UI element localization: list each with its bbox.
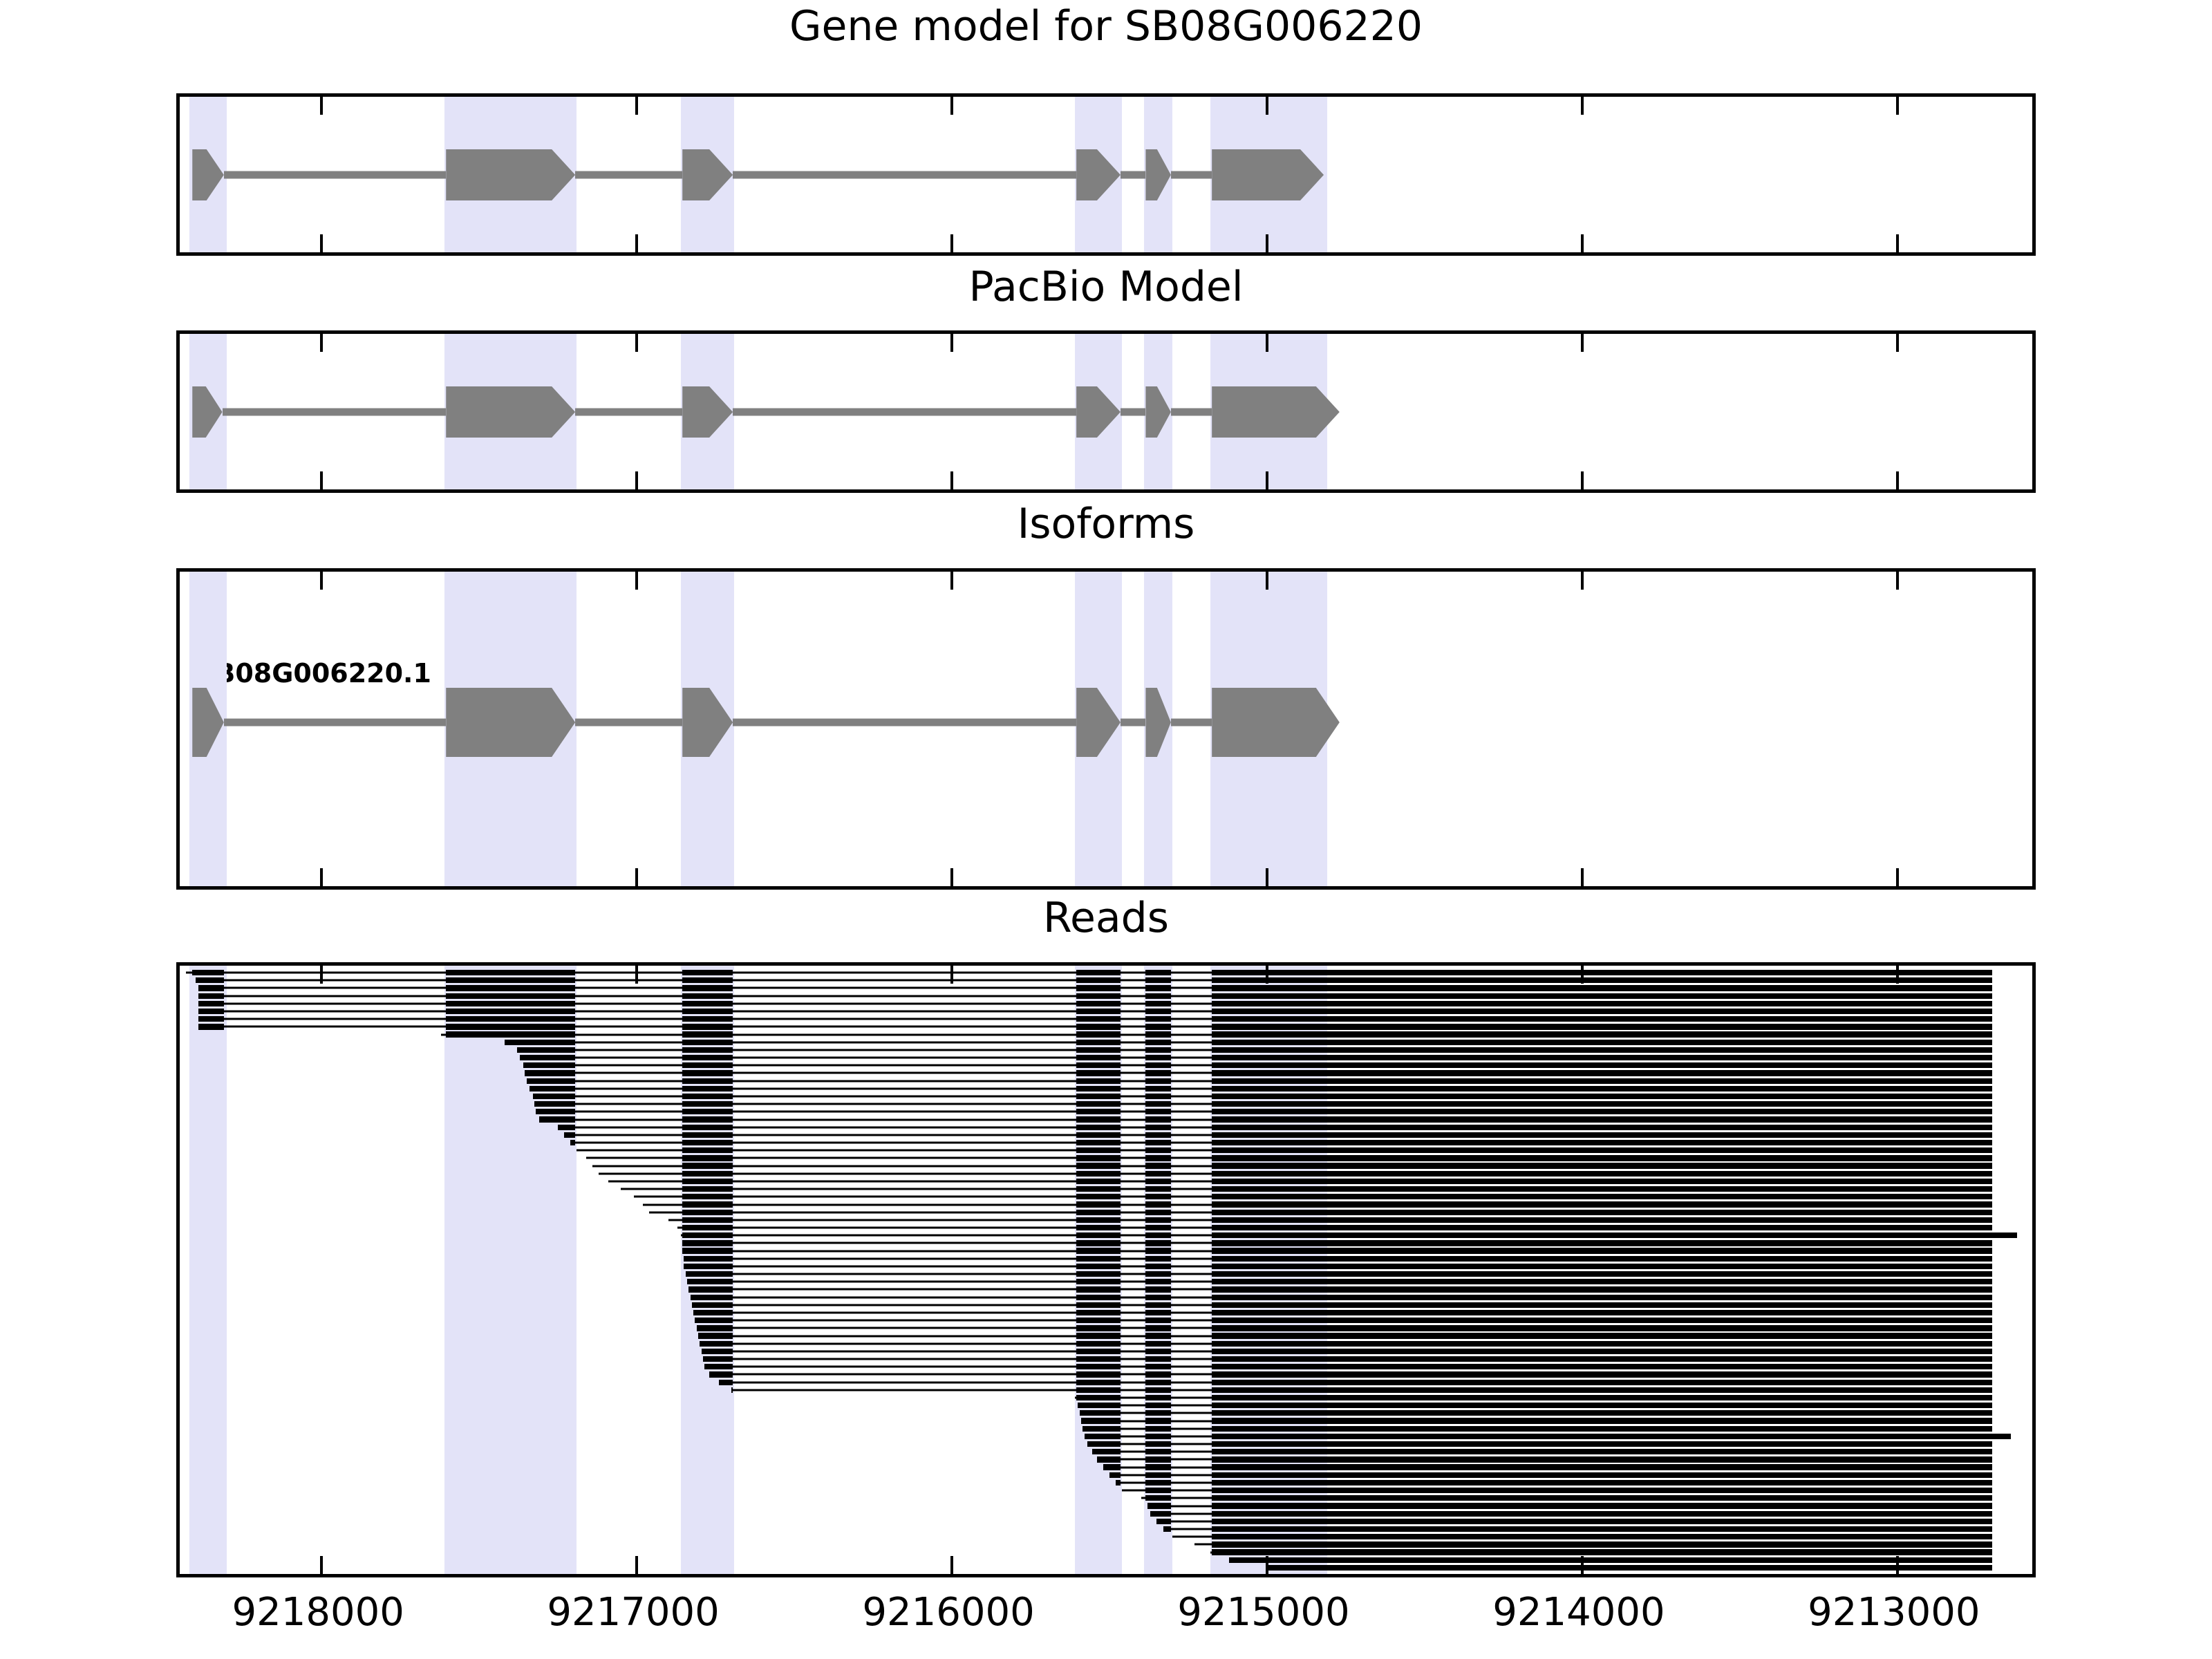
read-alignment[interactable] xyxy=(1156,1519,1991,1524)
read-exon-block xyxy=(1212,1325,1340,1331)
axis-tick xyxy=(950,572,953,590)
read-exon-block xyxy=(1145,1325,1170,1331)
read-exon-block xyxy=(1076,985,1121,991)
axis-tick xyxy=(320,471,323,489)
read-alignment[interactable] xyxy=(703,1356,1992,1362)
read-exon-block xyxy=(1212,1503,1340,1508)
axis-tick xyxy=(635,234,638,252)
read-exon-block xyxy=(682,1094,733,1099)
read-exon-block xyxy=(529,1086,575,1091)
read-exon-block xyxy=(1076,1031,1121,1037)
read-exon-block xyxy=(1340,1264,1992,1269)
read-exon-block xyxy=(682,1024,733,1029)
read-alignment[interactable] xyxy=(1092,1449,1992,1454)
read-exon-block xyxy=(558,1125,575,1130)
reads-plot-area xyxy=(180,966,2032,1574)
read-exon-block xyxy=(1145,1441,1170,1447)
axis-tick xyxy=(950,97,953,115)
read-exon-block xyxy=(1145,1179,1170,1184)
read-exon-block xyxy=(682,1186,733,1192)
read-exon-block xyxy=(1145,1078,1170,1084)
read-exon-block xyxy=(1145,1210,1170,1215)
read-exon-block xyxy=(1081,1418,1121,1423)
read-alignment[interactable] xyxy=(523,1062,1992,1068)
read-exon-block xyxy=(1340,1480,1992,1485)
read-exon-block xyxy=(1145,1009,1170,1014)
read-exon-block xyxy=(684,1264,733,1269)
read-exon-block xyxy=(1340,1302,1992,1308)
read-alignment[interactable] xyxy=(1085,1434,2011,1439)
read-alignment[interactable] xyxy=(186,970,1991,975)
read-exon-block xyxy=(517,1047,575,1053)
read-alignment[interactable] xyxy=(1122,1488,1991,1493)
read-alignment[interactable] xyxy=(634,1194,1992,1199)
read-exon-block xyxy=(1340,1488,1992,1493)
read-exon-block xyxy=(1076,1395,1121,1400)
read-exon-block xyxy=(1212,1070,1340,1076)
axis-tick xyxy=(1581,471,1584,489)
read-exon-block xyxy=(1145,1333,1170,1338)
read-exon-block xyxy=(1340,1434,2011,1439)
read-alignment[interactable] xyxy=(649,1210,1991,1215)
read-alignment[interactable] xyxy=(1150,1511,1991,1517)
read-alignment[interactable] xyxy=(529,1086,1992,1091)
read-alignment[interactable] xyxy=(520,1055,1991,1060)
read-alignment[interactable] xyxy=(558,1125,1991,1130)
read-exon-block xyxy=(682,1217,733,1223)
read-alignment[interactable] xyxy=(719,1380,1992,1385)
read-exon-block xyxy=(1340,1194,1992,1199)
read-exon-block xyxy=(697,1325,733,1331)
read-exon-block xyxy=(1097,1456,1121,1462)
read-exon-block xyxy=(682,1040,733,1045)
read-exon-block xyxy=(682,1155,733,1161)
read-alignment[interactable] xyxy=(441,1031,1991,1037)
read-alignment[interactable] xyxy=(687,1279,1992,1284)
read-exon-block xyxy=(520,1055,575,1060)
read-exon-block xyxy=(1145,1055,1170,1060)
read-exon-block xyxy=(1076,1295,1121,1300)
intron-line xyxy=(1171,171,1212,179)
read-alignment[interactable] xyxy=(1082,1426,1991,1432)
read-exon-block xyxy=(1340,1286,1992,1292)
read-exon-block xyxy=(1212,1179,1340,1184)
read-exon-block xyxy=(1212,1318,1340,1323)
read-alignment[interactable] xyxy=(621,1186,1991,1192)
read-exon-block xyxy=(1340,1055,1992,1060)
read-exon-block xyxy=(1340,985,1992,991)
read-alignment[interactable] xyxy=(697,1325,1992,1331)
read-exon-block xyxy=(1076,1349,1121,1354)
read-exon-block xyxy=(1340,1225,1992,1230)
read-exon-block xyxy=(1145,1094,1170,1099)
read-exon-block xyxy=(682,1140,733,1145)
read-exon-block xyxy=(564,1132,575,1138)
read-alignment[interactable] xyxy=(695,1318,1991,1323)
read-exon-block xyxy=(1340,1356,1992,1362)
read-exon-block xyxy=(1212,1001,1340,1006)
read-exon-block xyxy=(682,1240,733,1246)
read-alignment[interactable] xyxy=(586,1155,1991,1161)
read-exon-block xyxy=(1145,1248,1170,1253)
read-exon-block xyxy=(1145,1302,1170,1308)
read-exon-block xyxy=(1340,1310,1992,1315)
read-exon-block xyxy=(1076,1147,1121,1153)
read-alignment[interactable] xyxy=(1087,1441,1992,1447)
read-exon-block xyxy=(1212,1295,1340,1300)
intron-line xyxy=(733,409,1076,416)
read-exon-block xyxy=(700,1341,733,1347)
read-exon-block xyxy=(682,993,733,999)
read-exon-block xyxy=(1076,1364,1121,1369)
read-exon-block xyxy=(1076,1132,1121,1138)
gene-model-panel[interactable] xyxy=(176,93,2036,256)
read-exon-block xyxy=(1340,1464,1992,1470)
read-exon-block xyxy=(1212,1541,1340,1547)
read-exon-block xyxy=(1145,1456,1170,1462)
read-exon-block xyxy=(682,1194,733,1199)
read-exon-block xyxy=(1212,1480,1340,1485)
exon-block[interactable] xyxy=(446,386,575,438)
read-exon-block xyxy=(1076,1264,1121,1269)
read-exon-block xyxy=(1076,1217,1121,1223)
read-exon-block xyxy=(1212,1256,1340,1262)
axis-tick xyxy=(1896,97,1899,115)
read-alignment[interactable] xyxy=(577,1147,1991,1153)
read-exon-block xyxy=(1076,1024,1121,1029)
read-exon-block xyxy=(1145,1286,1170,1292)
read-exon-block xyxy=(682,1147,733,1153)
read-exon-block xyxy=(1076,1116,1121,1122)
exon-block[interactable] xyxy=(1212,688,1340,757)
read-exon-block xyxy=(702,1349,733,1354)
read-exon-block xyxy=(1145,1186,1170,1192)
intron-line xyxy=(1171,719,1212,727)
read-exon-block xyxy=(682,1001,733,1006)
read-alignment[interactable] xyxy=(682,1248,1991,1253)
read-alignment[interactable] xyxy=(198,1016,1991,1022)
axis-tick xyxy=(1266,868,1268,886)
pacbio-model-panel[interactable] xyxy=(176,330,2036,493)
read-exon-block xyxy=(1076,1086,1121,1091)
axis-tick xyxy=(950,868,953,886)
read-exon-block xyxy=(446,985,575,991)
axis-tick xyxy=(320,97,323,115)
read-exon-block xyxy=(1212,1488,1340,1493)
read-exon-block xyxy=(1212,1364,1340,1369)
read-exon-block xyxy=(1076,1240,1121,1246)
axis-tick xyxy=(320,334,323,352)
read-exon-block xyxy=(682,1171,733,1177)
axis-tick xyxy=(1896,471,1899,489)
read-exon-block xyxy=(1145,1031,1170,1037)
read-alignment[interactable] xyxy=(1080,1410,1992,1416)
read-exon-block xyxy=(1340,1279,1992,1284)
read-exon-block xyxy=(682,1248,733,1253)
read-alignment[interactable] xyxy=(691,1295,1992,1300)
read-exon-block xyxy=(1076,1078,1121,1084)
read-alignment[interactable] xyxy=(702,1349,1992,1354)
read-exon-block xyxy=(1145,1125,1170,1130)
read-exon-block xyxy=(1145,1024,1170,1029)
read-exon-block xyxy=(1212,1201,1340,1207)
read-exon-block xyxy=(1340,1040,1992,1045)
read-exon-block xyxy=(1076,1194,1121,1199)
read-alignment[interactable] xyxy=(677,1225,1991,1230)
read-alignment[interactable] xyxy=(1075,1395,1992,1400)
read-exon-block xyxy=(1212,1310,1340,1315)
read-exon-block xyxy=(1340,1410,1992,1416)
read-exon-block xyxy=(1212,1132,1340,1138)
read-exon-block xyxy=(1212,1410,1340,1416)
read-exon-block xyxy=(1212,1349,1340,1354)
read-exon-block xyxy=(1145,1434,1170,1439)
read-exon-block xyxy=(1076,1333,1121,1338)
read-alignment[interactable] xyxy=(599,1171,1991,1177)
read-exon-block xyxy=(688,1286,733,1292)
read-exon-block xyxy=(1212,1186,1340,1192)
read-exon-block xyxy=(1212,1549,1340,1555)
read-alignment[interactable] xyxy=(517,1047,1992,1053)
read-exon-block xyxy=(1212,1248,1340,1253)
read-exon-block xyxy=(1340,1147,1992,1153)
intron-line xyxy=(575,409,682,416)
read-exon-block xyxy=(1145,1217,1170,1223)
axis-tick xyxy=(1581,97,1584,115)
exon-block[interactable] xyxy=(1212,149,1324,200)
read-exon-block xyxy=(1212,1140,1340,1145)
read-exon-block xyxy=(1145,1240,1170,1246)
isoforms-panel[interactable]: SB08G006220.1 xyxy=(176,568,2036,890)
read-exon-block xyxy=(1212,1279,1340,1284)
read-alignment[interactable] xyxy=(1229,1557,1991,1563)
read-exon-block xyxy=(525,1070,575,1076)
read-alignment[interactable] xyxy=(564,1132,1991,1138)
read-alignment[interactable] xyxy=(592,1163,1991,1168)
read-exon-block xyxy=(1076,1062,1121,1068)
read-exon-block xyxy=(1076,1225,1121,1230)
read-exon-block xyxy=(1212,1016,1340,1022)
read-alignment[interactable] xyxy=(692,1302,1992,1308)
read-exon-block xyxy=(682,1201,733,1207)
read-alignment[interactable] xyxy=(1103,1464,1992,1470)
read-exon-block xyxy=(198,1024,223,1029)
read-exon-block xyxy=(1340,1070,1992,1076)
read-exon-block xyxy=(1340,993,1992,999)
read-alignment[interactable] xyxy=(1147,1503,1992,1508)
exon-block[interactable] xyxy=(446,688,575,757)
read-alignment[interactable] xyxy=(682,1240,1991,1246)
exon-block[interactable] xyxy=(1212,386,1340,438)
read-exon-block xyxy=(196,977,224,983)
read-exon-block xyxy=(1078,1403,1121,1408)
read-exon-block xyxy=(1145,1225,1170,1230)
read-exon-block xyxy=(446,993,575,999)
read-exon-block xyxy=(1340,1217,1992,1223)
read-exon-block xyxy=(1340,1031,1992,1037)
read-alignment[interactable] xyxy=(668,1217,1992,1223)
read-alignment[interactable] xyxy=(1210,1549,1992,1555)
read-exon-block xyxy=(1340,1163,1992,1168)
read-alignment[interactable] xyxy=(684,1264,1991,1269)
read-alignment[interactable] xyxy=(688,1286,1991,1292)
read-exon-block xyxy=(687,1279,733,1284)
read-exon-block xyxy=(1212,1078,1340,1084)
read-exon-block xyxy=(1163,1526,1171,1532)
read-exon-block xyxy=(1340,1557,1992,1563)
read-exon-block xyxy=(695,1318,733,1323)
read-exon-block xyxy=(1145,1171,1170,1177)
read-exon-block xyxy=(1076,1286,1121,1292)
read-alignment[interactable] xyxy=(1172,1534,1991,1539)
intron-line xyxy=(733,719,1076,727)
read-alignment[interactable] xyxy=(1097,1456,1992,1462)
read-exon-block xyxy=(1212,1094,1340,1099)
read-exon-block xyxy=(1212,1426,1340,1432)
read-alignment[interactable] xyxy=(700,1341,1991,1347)
read-alignment[interactable] xyxy=(1078,1403,1991,1408)
read-alignment[interactable] xyxy=(198,1024,1991,1029)
read-alignment[interactable] xyxy=(198,993,1991,999)
read-exon-block xyxy=(682,1179,733,1184)
read-exon-block xyxy=(1340,1325,1992,1331)
read-alignment[interactable] xyxy=(505,1040,1992,1045)
read-exon-block xyxy=(446,977,575,983)
axis-tick xyxy=(950,234,953,252)
read-alignment[interactable] xyxy=(198,985,1991,991)
read-alignment[interactable] xyxy=(570,1140,1991,1145)
read-alignment[interactable] xyxy=(1267,1565,1992,1571)
read-exon-block xyxy=(1340,1116,1992,1122)
read-exon-block xyxy=(1145,1310,1170,1315)
axis-tick xyxy=(635,1556,638,1574)
read-exon-block xyxy=(1340,1456,1992,1462)
read-exon-block xyxy=(1212,1472,1340,1478)
read-exon-block xyxy=(1145,1395,1170,1400)
read-exon-block xyxy=(1145,985,1170,991)
read-exon-block xyxy=(1076,1109,1121,1114)
read-exon-block xyxy=(1212,1441,1340,1447)
read-alignment[interactable] xyxy=(693,1310,1991,1315)
read-exon-block xyxy=(1145,1295,1170,1300)
read-exon-block xyxy=(1145,1380,1170,1385)
read-exon-block xyxy=(1340,977,1992,983)
read-exon-block xyxy=(692,1302,733,1308)
read-exon-block xyxy=(1082,1426,1121,1432)
read-exon-block xyxy=(1076,1232,1121,1238)
read-exon-block xyxy=(1212,1519,1340,1524)
read-exon-block xyxy=(1340,1232,2017,1238)
axis-tick xyxy=(950,1556,953,1574)
read-exon-block xyxy=(1212,1434,1340,1439)
read-alignment[interactable] xyxy=(1109,1472,1992,1478)
read-exon-block xyxy=(536,1109,575,1114)
read-exon-block xyxy=(523,1062,575,1068)
read-exon-block xyxy=(1340,1256,1992,1262)
read-exon-block xyxy=(1340,1016,1992,1022)
read-alignment[interactable] xyxy=(681,1232,2017,1238)
read-exon-block xyxy=(682,1047,733,1053)
read-exon-block xyxy=(1145,1194,1170,1199)
read-exon-block xyxy=(1340,1333,1992,1338)
read-exon-block xyxy=(1145,970,1170,975)
exon-block[interactable] xyxy=(446,149,575,200)
axis-tick xyxy=(1581,334,1584,352)
read-alignment[interactable] xyxy=(198,1009,1991,1014)
read-exon-block xyxy=(1150,1511,1171,1517)
read-alignment[interactable] xyxy=(731,1387,1992,1393)
read-alignment[interactable] xyxy=(643,1201,1991,1207)
read-exon-block xyxy=(1076,1279,1121,1284)
read-alignment[interactable] xyxy=(709,1371,1992,1377)
read-exon-block xyxy=(1076,1016,1121,1022)
read-alignment[interactable] xyxy=(1163,1526,1992,1532)
read-alignment[interactable] xyxy=(1081,1418,1992,1423)
read-exon-block xyxy=(1340,1001,1992,1006)
read-exon-block xyxy=(1145,1418,1170,1423)
read-exon-block xyxy=(1212,1403,1340,1408)
read-alignment[interactable] xyxy=(684,1256,1991,1262)
read-exon-block xyxy=(731,1387,733,1393)
read-alignment[interactable] xyxy=(704,1364,1991,1369)
read-alignment[interactable] xyxy=(533,1094,1992,1099)
read-exon-block xyxy=(198,1001,223,1006)
read-exon-block xyxy=(1212,1449,1340,1454)
read-alignment[interactable] xyxy=(686,1271,1992,1277)
read-exon-block xyxy=(539,1116,575,1122)
read-alignment[interactable] xyxy=(698,1333,1992,1338)
read-alignment[interactable] xyxy=(1194,1541,1992,1547)
read-exon-block xyxy=(1076,1310,1121,1315)
read-exon-block xyxy=(1145,1070,1170,1076)
read-exon-block xyxy=(1212,1418,1340,1423)
read-alignment[interactable] xyxy=(1141,1495,1992,1501)
read-exon-block xyxy=(1145,1364,1170,1369)
read-exon-block xyxy=(682,1132,733,1138)
read-exon-block xyxy=(682,970,733,975)
read-exon-block xyxy=(1212,1271,1340,1277)
read-exon-block xyxy=(1145,1318,1170,1323)
read-exon-block xyxy=(1212,1125,1340,1130)
read-alignment[interactable] xyxy=(196,977,1992,983)
read-alignment[interactable] xyxy=(527,1078,1992,1084)
read-exon-block xyxy=(1212,1240,1340,1246)
read-alignment[interactable] xyxy=(539,1116,1992,1122)
read-alignment[interactable] xyxy=(534,1101,1992,1107)
read-alignment[interactable] xyxy=(1116,1480,1991,1485)
read-exon-block xyxy=(1076,1387,1121,1393)
read-exon-block xyxy=(1145,1449,1170,1454)
read-exon-block xyxy=(1340,1047,1992,1053)
figure-canvas: Gene model for SB08G006220 PacBio Model … xyxy=(0,0,2212,1659)
read-exon-block xyxy=(1212,1456,1340,1462)
read-alignment[interactable] xyxy=(608,1179,1992,1184)
read-exon-block xyxy=(1145,1016,1170,1022)
read-exon-block xyxy=(693,1310,733,1315)
read-exon-block xyxy=(1212,1225,1340,1230)
reads-panel[interactable] xyxy=(176,962,2036,1577)
read-exon-block xyxy=(1076,1356,1121,1362)
intron-line xyxy=(224,171,446,179)
read-exon-block xyxy=(1340,1179,1992,1184)
read-exon-block xyxy=(1145,1403,1170,1408)
read-alignment[interactable] xyxy=(536,1109,1991,1114)
read-alignment[interactable] xyxy=(525,1070,1991,1076)
axis-tick xyxy=(635,471,638,489)
read-exon-block xyxy=(1212,970,1340,975)
read-alignment[interactable] xyxy=(198,1001,1991,1006)
axis-tick xyxy=(320,1556,323,1574)
